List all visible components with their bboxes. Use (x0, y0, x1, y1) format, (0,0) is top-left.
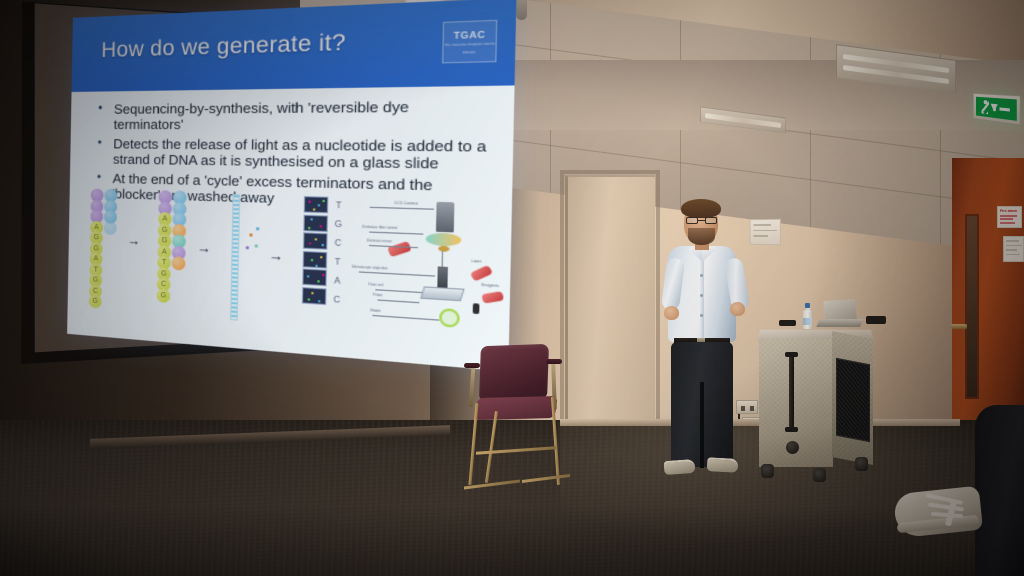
av-lectern-cart[interactable] (757, 325, 874, 485)
presenter-beard (688, 228, 715, 245)
process-arrow: → (127, 232, 140, 248)
fire-action-notice: Fire alarm (997, 206, 1022, 228)
dna-strand-left: A G G A T G C G (89, 189, 104, 306)
flowcell-tile (303, 214, 328, 231)
process-arrow: → (197, 240, 211, 256)
speaker-grille-icon (836, 358, 870, 443)
slide-canvas: How do we generate it? TGAC The Genome A… (67, 0, 516, 372)
process-arrow: → (269, 247, 284, 264)
chair-backrest (479, 344, 549, 400)
dna-bead-terminator (172, 256, 186, 270)
caster-wheel-icon (813, 468, 826, 482)
free-nucleotide-dot (246, 246, 249, 249)
dna-bead (104, 221, 117, 235)
bullet-item: Detects the release of light as a nucleo… (91, 136, 492, 173)
logo-name: TGAC (454, 29, 486, 41)
reagent-bottle-icon (470, 265, 493, 282)
chair-seat (474, 396, 558, 420)
desk-accessory[interactable] (866, 316, 886, 324)
machine-label: Waste (370, 308, 381, 313)
door-vision-panel (965, 214, 979, 399)
door-notice-sign (1003, 236, 1024, 262)
sprinkler-head-icon (516, 0, 527, 20)
door-handle-icon[interactable] (951, 324, 967, 329)
chair-foot-rail (464, 480, 520, 490)
dichroic-mirror-icon (438, 246, 450, 252)
shirt-placket (699, 258, 704, 342)
sequencer-schematic: CCD Camera Emission filter wheel Dichroi… (350, 193, 506, 345)
flowcell-tile (302, 286, 327, 304)
free-nucleotide-dot (256, 227, 259, 230)
chair-armpad-left (464, 363, 480, 368)
chair-foot-rail (522, 474, 570, 483)
running-man-icon (982, 100, 989, 114)
machine-label: Microscope objective (352, 264, 388, 270)
dna-bead: G (89, 294, 102, 308)
basecall-label: C (331, 294, 343, 305)
flowcell-tile (304, 196, 329, 213)
valve-icon (473, 303, 480, 314)
ccd-camera-icon (436, 202, 454, 233)
exit-door-bar-icon (999, 107, 1009, 111)
presenter-shoe-right (707, 457, 739, 473)
basecall-label: A (331, 276, 343, 287)
presenter-hand-left (664, 306, 679, 320)
free-nucleotide-dot (255, 244, 258, 247)
tgac-logo: TGAC The Genome Analysis Centre BBSRC (442, 20, 497, 64)
machine-label: Laser (471, 259, 481, 264)
dna-bead: G (157, 288, 171, 302)
filter-wheel-icon (426, 233, 462, 247)
lectern-lock-knob-icon[interactable] (786, 441, 799, 454)
flow-cell-lane (230, 194, 240, 320)
flowcell-tile (303, 250, 328, 268)
machine-label: Prism (373, 292, 383, 297)
flowcell-tile (302, 268, 327, 286)
chair-leg (468, 403, 478, 485)
chair-armpad-right (546, 359, 562, 364)
reagent-bottle-icon (481, 291, 504, 304)
exit-sign-face (976, 97, 1017, 121)
dna-strand-left-complement (104, 189, 118, 232)
basecall-label: T (333, 200, 345, 210)
basecall-label: G (332, 219, 344, 229)
logo-footer: BBSRC (462, 49, 476, 54)
presenter-hair (681, 199, 721, 218)
flowcell-tile (303, 232, 328, 250)
down-arrow-icon (991, 104, 998, 113)
presenter-hand-right (730, 302, 745, 316)
chair-leg (485, 411, 498, 483)
slide-diagram: A G G A T G C G → (75, 186, 504, 364)
machine-label: Flow cell (368, 282, 383, 287)
logo-subtitle: The Genome Analysis Centre (444, 40, 495, 46)
machine-label: CCD Camera (394, 201, 418, 206)
bullet-item: Sequencing-by-synthesis, with 'reversibl… (92, 98, 493, 133)
basecall-label: C (332, 238, 344, 249)
dna-strand-mid-complement (172, 191, 187, 268)
machine-label: Reagents (481, 283, 499, 289)
machine-label: Dichroic mirror (367, 238, 392, 244)
presenter-remote[interactable] (779, 320, 796, 326)
audience-member-leg (975, 405, 1024, 576)
lectern-handle-icon[interactable] (789, 355, 794, 429)
waste-port-icon (439, 308, 460, 328)
basecall-tile-stack (302, 196, 329, 306)
flow-cell-icon (420, 286, 464, 301)
beam-path (442, 250, 444, 266)
photo-scene: How do we generate it? TGAC The Genome A… (0, 0, 1024, 576)
free-nucleotide-dot (249, 233, 252, 236)
glasses-icon (686, 217, 717, 224)
bottle-cap-icon (805, 303, 810, 308)
presenter (640, 202, 765, 482)
presenter-shoe-left (664, 459, 696, 475)
fire-notice-title: Fire alarm (1000, 209, 1019, 213)
stacking-chair[interactable] (462, 345, 582, 495)
dna-strand-mid: A G G A T G C G (157, 190, 172, 300)
machine-label: Emission filter wheel (362, 224, 397, 230)
caster-wheel-icon (855, 457, 868, 471)
chair-arm-left (469, 367, 476, 407)
objective-icon (437, 266, 448, 287)
projected-slide: How do we generate it? TGAC The Genome A… (67, 0, 516, 372)
basecall-label: T (332, 257, 344, 268)
water-bottle[interactable] (803, 303, 812, 329)
laptop-keyboard-base[interactable] (816, 319, 864, 327)
trouser-leg-gap (700, 382, 704, 468)
chair-stretcher (476, 446, 556, 455)
